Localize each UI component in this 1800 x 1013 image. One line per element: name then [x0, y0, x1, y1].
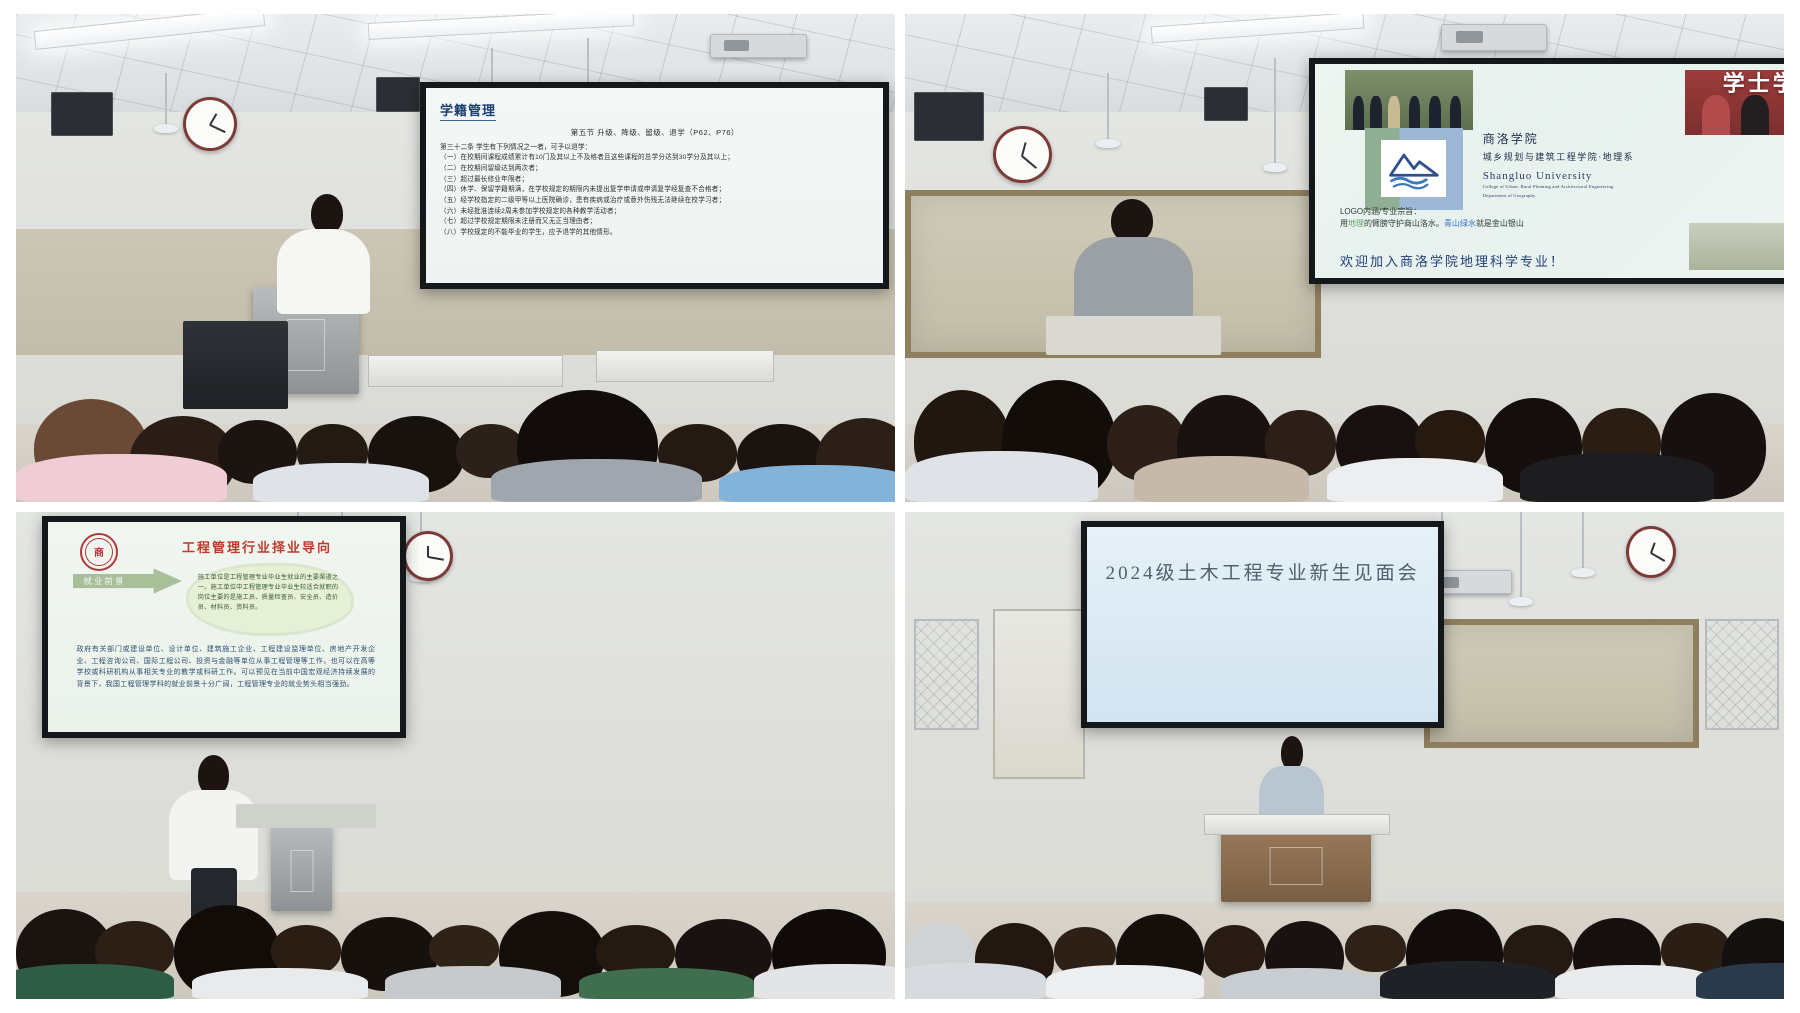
- audience: [905, 775, 1784, 999]
- slide-title: 2024级土木工程专业新生见面会: [1106, 558, 1420, 585]
- college-name-en: College of Urban, Rural Planning and Arc…: [1483, 184, 1635, 191]
- photo-top-right[interactable]: 学士学 商洛学院 城: [905, 14, 1784, 502]
- photo-bottom-right[interactable]: 2024级土木工程专业新生见面会: [905, 512, 1784, 1000]
- motto-line: 用地理的臂膀守护商山洛水。青山绿水就是金山银山: [1340, 218, 1524, 231]
- projection-screen: 2024级土木工程专业新生见面会: [1081, 521, 1445, 728]
- motto-highlight-green: 地理: [1348, 219, 1364, 228]
- slide-item: （六）未经批准连续2周未参加学校规定的各种教学活动者；: [440, 207, 870, 218]
- slide-item: （五）经学校指定的二级甲等以上医院确诊，患有疾病或治疗或意外伤残无法继续在校学习…: [440, 196, 870, 207]
- wall-speaker-icon: [914, 92, 984, 141]
- classroom-scene-top-right: 学士学 商洛学院 城: [905, 14, 1784, 502]
- motto-highlight-blue: 青山绿水: [1444, 219, 1476, 228]
- motto-part: 就是金山银山: [1476, 219, 1524, 228]
- window: [914, 619, 980, 730]
- slide-item: （二）在校期间留级达到两次者；: [440, 164, 870, 175]
- wall-speaker-icon: [1204, 87, 1248, 121]
- projection-screen: 商 工程管理行业择业导向 就业前景 施工单位是工程管理专业毕业生就业的主要渠道之…: [42, 516, 406, 738]
- window: [1705, 619, 1779, 730]
- wall-clock-icon: [403, 531, 453, 581]
- motto-part: 用: [1340, 219, 1348, 228]
- audience: [905, 248, 1784, 502]
- mountain-water-logo-icon: [1386, 144, 1442, 193]
- classroom-scene-top-left: 学籍管理 第五节 升级、降级、留级、退学（P62、P76） 第三十二条 学生有下…: [16, 14, 895, 502]
- wall-speaker-icon: [376, 77, 420, 111]
- projection-screen: 学籍管理 第五节 升级、降级、留级、退学（P62、P76） 第三十二条 学生有下…: [420, 82, 889, 289]
- audience: [16, 804, 895, 999]
- slide-engineering-management-career: 商 工程管理行业择业导向 就业前景 施工单位是工程管理专业毕业生就业的主要渠道之…: [48, 522, 400, 732]
- university-name-en: Shangluo University: [1483, 170, 1635, 182]
- pendant-lamp-icon: [1274, 58, 1276, 165]
- photo-top-left[interactable]: 学籍管理 第五节 升级、降级、留级、退学（P62、P76） 第三十二条 学生有下…: [16, 14, 895, 502]
- wall-clock-icon: [1626, 526, 1676, 578]
- wall-clock-icon: [183, 97, 237, 151]
- classroom-scene-bottom-left: 商 工程管理行业择业导向 就业前景 施工单位是工程管理专业毕业生就业的主要渠道之…: [16, 512, 895, 1000]
- pendant-lamp-icon: [1107, 73, 1109, 141]
- cloud-text: 施工单位是工程管理专业毕业生就业的主要渠道之一。施工单位中工程管理专业毕业生较适…: [198, 573, 342, 613]
- blackboard: [1424, 619, 1700, 748]
- slide-lead: 第三十二条 学生有下列情况之一者，可予以退学：: [440, 142, 870, 154]
- pendant-lamp-icon: [1520, 512, 1522, 600]
- photo-bottom-left[interactable]: 商 工程管理行业择业导向 就业前景 施工单位是工程管理专业毕业生就业的主要渠道之…: [16, 512, 895, 1000]
- college-name-cn: 城乡规划与建筑工程学院·地理系: [1483, 150, 1635, 163]
- slide-item: （八）学校规定的不能毕业的学生，应予退学的其他情形。: [440, 228, 870, 239]
- university-logo: [1365, 128, 1463, 210]
- classroom-scene-bottom-right: 2024级土木工程专业新生见面会: [905, 512, 1784, 1000]
- arrow-label: 就业前景: [84, 575, 126, 587]
- slide-item: （七）超过学校规定期限未注册而又无正当理由者；: [440, 217, 870, 228]
- slide-body-text: 政府有关部门或建设单位、设计单位、建筑施工企业、工程建设监理单位、房地产开发企业…: [76, 644, 375, 691]
- ceiling-projector-icon: [710, 34, 807, 58]
- pendant-lamp-icon: [165, 73, 167, 127]
- motto-part: 的臂膀守护商山洛水。: [1364, 219, 1444, 228]
- photo-collage: 学籍管理 第五节 升级、降级、留级、退学（P62、P76） 第三十二条 学生有下…: [0, 0, 1800, 1013]
- slide-title: 学籍管理: [440, 100, 496, 121]
- university-seal-icon: 商: [80, 533, 118, 571]
- university-name-block: 商洛学院 城乡规划与建筑工程学院·地理系 Shangluo University…: [1483, 130, 1635, 200]
- university-name-cn: 商洛学院: [1483, 130, 1635, 147]
- graduation-photo: [1345, 70, 1473, 130]
- wall-speaker-icon: [51, 92, 113, 136]
- pendant-lamp-icon: [1582, 512, 1584, 571]
- logo-motto: LOGO内涵/专业宗旨： 用地理的臂膀守护商山洛水。青山绿水就是金山银山: [1340, 206, 1524, 232]
- ceiling-projector-icon: [1441, 24, 1546, 51]
- audience: [16, 287, 895, 502]
- slide-student-status: 学籍管理 第五节 升级、降级、留级、退学（P62、P76） 第三十二条 学生有下…: [426, 88, 883, 283]
- motto-label: LOGO内涵/专业宗旨：: [1340, 206, 1524, 219]
- wall-clock-icon: [993, 126, 1052, 183]
- slide-big-word: 学士学: [1723, 66, 1784, 98]
- slide-item: （三）超过最长修业年限者；: [440, 175, 870, 186]
- slide-item: （一）在校期间课程成绩累计有10门及其以上不及格者且这些课程的总学分达到30学分…: [440, 153, 870, 164]
- slide-subtitle: 第五节 升级、降级、留级、退学（P62、P76）: [440, 127, 870, 138]
- slide-shangluo-university: 学士学 商洛学院 城: [1315, 64, 1784, 279]
- slide-item: （四）休学、保留学籍期满，在学校规定的期限内未提出复学申请或申请复学经复查不合格…: [440, 185, 870, 196]
- slide-title: 工程管理行业择业导向: [182, 537, 332, 556]
- slide-civil-engineering-orientation: 2024级土木工程专业新生见面会: [1087, 527, 1439, 722]
- department-name-en: Department of Geography: [1483, 193, 1635, 200]
- door: [993, 609, 1085, 779]
